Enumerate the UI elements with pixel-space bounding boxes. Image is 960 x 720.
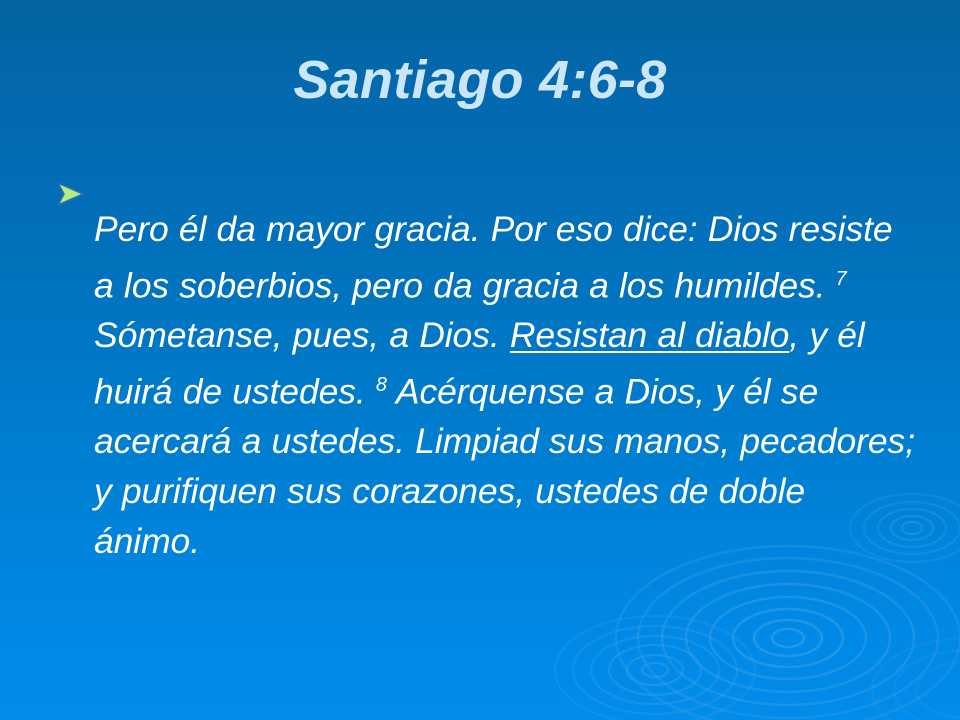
scripture-underlined-phrase: Resistan al diablo: [510, 315, 789, 355]
scripture-part-2: Sómetanse, pues, a Dios.: [94, 315, 510, 355]
ripple-medium: [555, 616, 755, 720]
scripture-part-1: Pero él da mayor gracia. Por eso dice: D…: [94, 209, 893, 305]
scripture-paragraph: Pero él da mayor gracia. Por eso dice: D…: [94, 204, 918, 567]
verse-number-7: 7: [836, 268, 847, 290]
presentation-slide: Santiago 4:6-8 Pero él da mayor gracia. …: [0, 0, 960, 720]
ripple-edge-arcs: [872, 638, 960, 720]
slide-title-block: Santiago 4:6-8: [0, 52, 960, 109]
slide-body-block: Pero él da mayor gracia. Por eso dice: D…: [56, 168, 918, 602]
verse-number-8: 8: [376, 374, 387, 396]
arrowhead-bullet-icon: [56, 168, 94, 208]
slide-title: Santiago 4:6-8: [293, 52, 666, 109]
